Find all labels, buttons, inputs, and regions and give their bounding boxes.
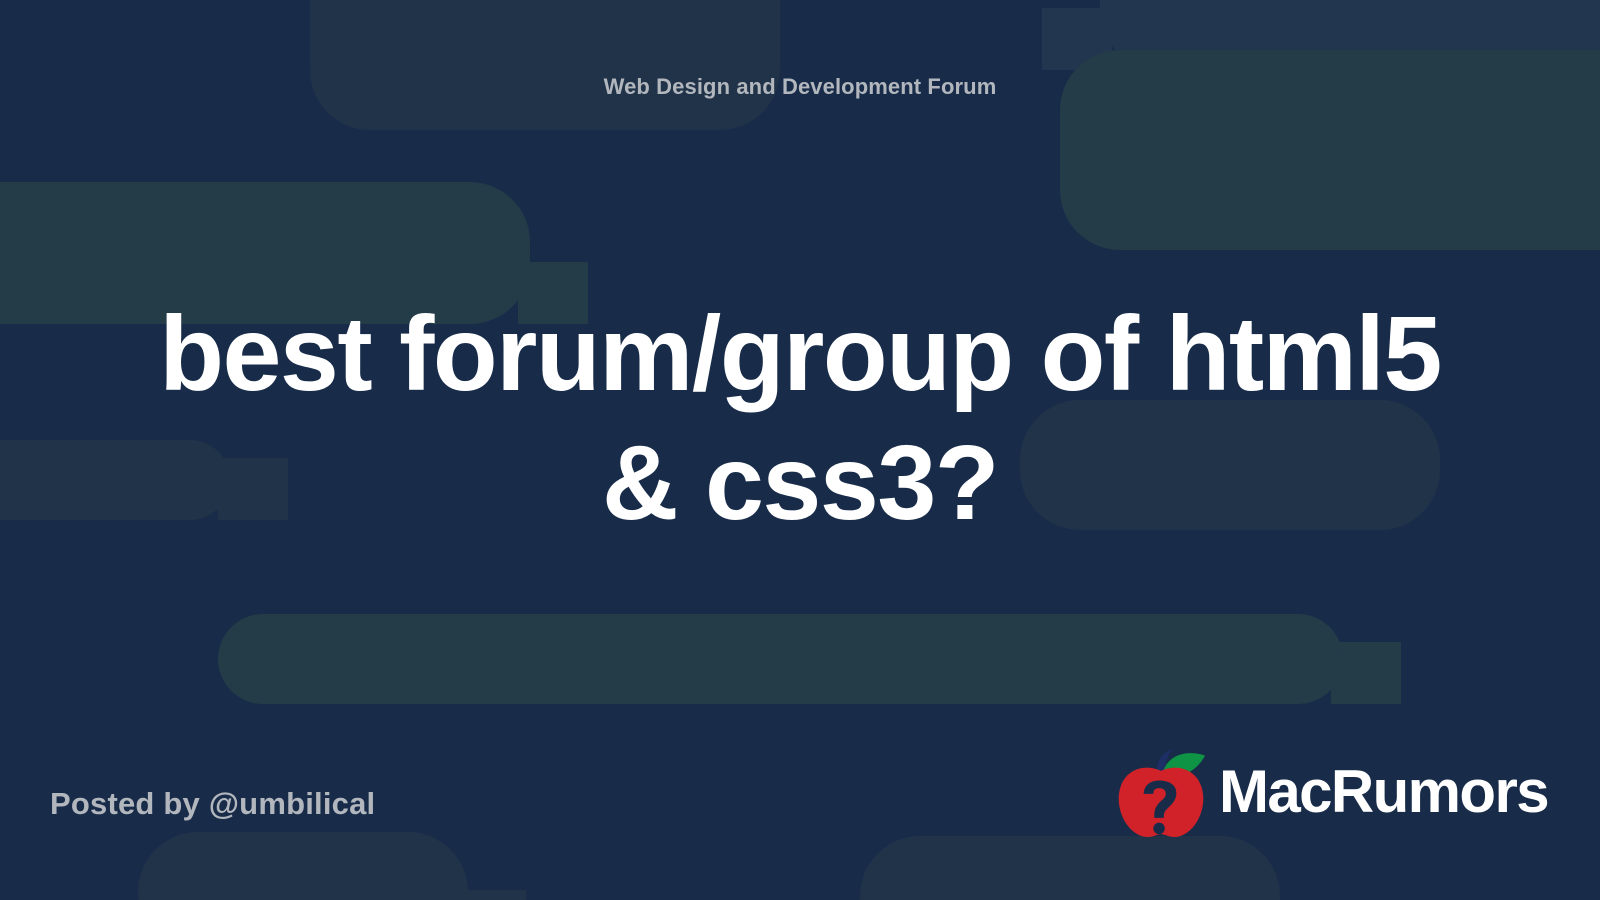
share-card: Web Design and Development Forum best fo… — [0, 0, 1600, 900]
thread-title: best forum/group of html5 & css3? — [120, 290, 1480, 549]
forum-name-label: Web Design and Development Forum — [0, 74, 1600, 100]
card-content: Web Design and Development Forum best fo… — [0, 0, 1600, 900]
post-author-label: Posted by @umbilical — [50, 786, 375, 822]
macrumors-wordmark: MacRumors — [1219, 762, 1548, 822]
macrumors-logo: MacRumors — [1113, 746, 1548, 838]
macrumors-apple-question-mark-icon — [1113, 746, 1209, 838]
